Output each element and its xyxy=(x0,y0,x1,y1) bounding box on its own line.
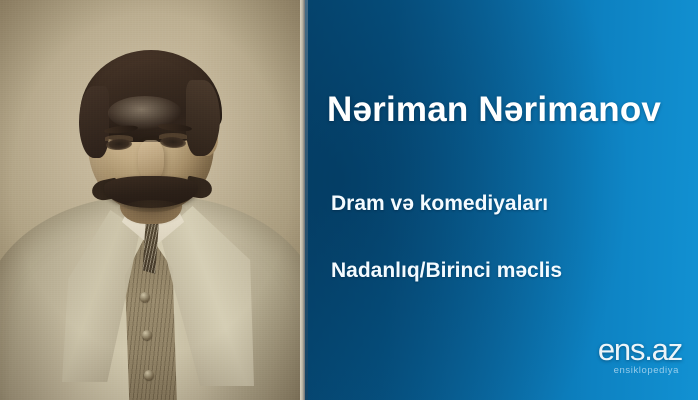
photo-grain-texture xyxy=(0,0,303,400)
site-logo[interactable]: ens.az ensiklopediya xyxy=(556,334,682,380)
subtitle-work-title: Nadanlıq/Birinci məclis xyxy=(331,259,691,283)
article-banner: Nəriman Nərimanov Dram və komediyaları N… xyxy=(0,0,698,400)
site-logo-wordmark: ens.az xyxy=(556,334,682,365)
subtitle-works: Dram və komediyaları xyxy=(331,192,691,216)
portrait-photo xyxy=(0,0,303,400)
info-panel: Nəriman Nərimanov Dram və komediyaları N… xyxy=(305,0,698,400)
page-title: Nəriman Nərimanov xyxy=(327,90,692,130)
site-logo-tagline: ensiklopediya xyxy=(556,366,679,376)
